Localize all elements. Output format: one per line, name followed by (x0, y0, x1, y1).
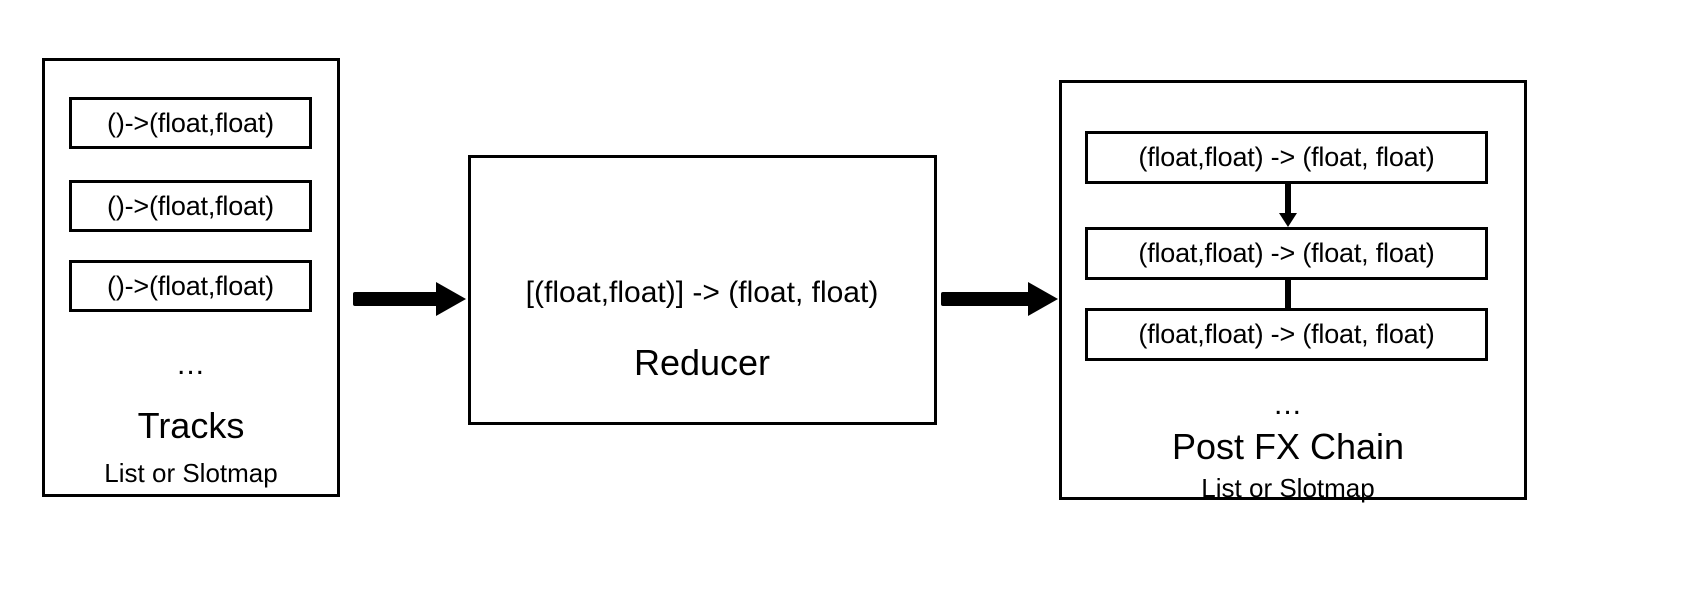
tracks-ellipsis: ... (177, 350, 205, 380)
postfx-ellipsis-text: ... (1274, 388, 1302, 421)
arrow-shaft (353, 292, 439, 306)
postfx-subtitle-text: List or Slotmap (1201, 473, 1374, 503)
arrow-shaft (1285, 184, 1291, 214)
tracks-subtitle: List or Slotmap (104, 460, 277, 486)
tracks-title-text: Tracks (138, 405, 245, 446)
reducer-signature-text: [(float,float)] -> (float, float) (526, 276, 879, 309)
postfx-ellipsis: ... (1274, 390, 1302, 420)
reducer-title: Reducer (634, 345, 770, 381)
postfx-title-text: Post FX Chain (1172, 426, 1404, 467)
arrow-shaft (941, 292, 1031, 306)
tracks-subtitle-text: List or Slotmap (104, 458, 277, 488)
postfx-node-1[interactable]: (float,float) -> (float, float) (1085, 131, 1488, 184)
postfx-node-1-label: (float,float) -> (float, float) (1138, 144, 1434, 171)
arrow-head (1279, 213, 1297, 227)
tracks-ellipsis-text: ... (177, 348, 205, 381)
track-node-3-label: ()->(float,float) (107, 273, 274, 300)
arrow-head (1028, 282, 1058, 316)
arrow-shaft (1285, 280, 1291, 310)
postfx-title: Post FX Chain (1172, 429, 1404, 465)
track-node-2-label: ()->(float,float) (107, 193, 274, 220)
postfx-node-3[interactable]: (float,float) -> (float, float) (1085, 308, 1488, 361)
postfx-node-3-label: (float,float) -> (float, float) (1138, 321, 1434, 348)
postfx-node-2-label: (float,float) -> (float, float) (1138, 240, 1434, 267)
reducer-title-text: Reducer (634, 342, 770, 383)
track-node-1[interactable]: ()->(float,float) (69, 97, 312, 149)
arrow-head (436, 282, 466, 316)
diagram-canvas: ()->(float,float) ()->(float,float) ()->… (0, 0, 1694, 600)
reducer-signature: [(float,float)] -> (float, float) (526, 278, 879, 308)
tracks-title: Tracks (138, 408, 245, 444)
postfx-node-2[interactable]: (float,float) -> (float, float) (1085, 227, 1488, 280)
track-node-3[interactable]: ()->(float,float) (69, 260, 312, 312)
track-node-1-label: ()->(float,float) (107, 110, 274, 137)
track-node-2[interactable]: ()->(float,float) (69, 180, 312, 232)
postfx-subtitle: List or Slotmap (1201, 475, 1374, 501)
